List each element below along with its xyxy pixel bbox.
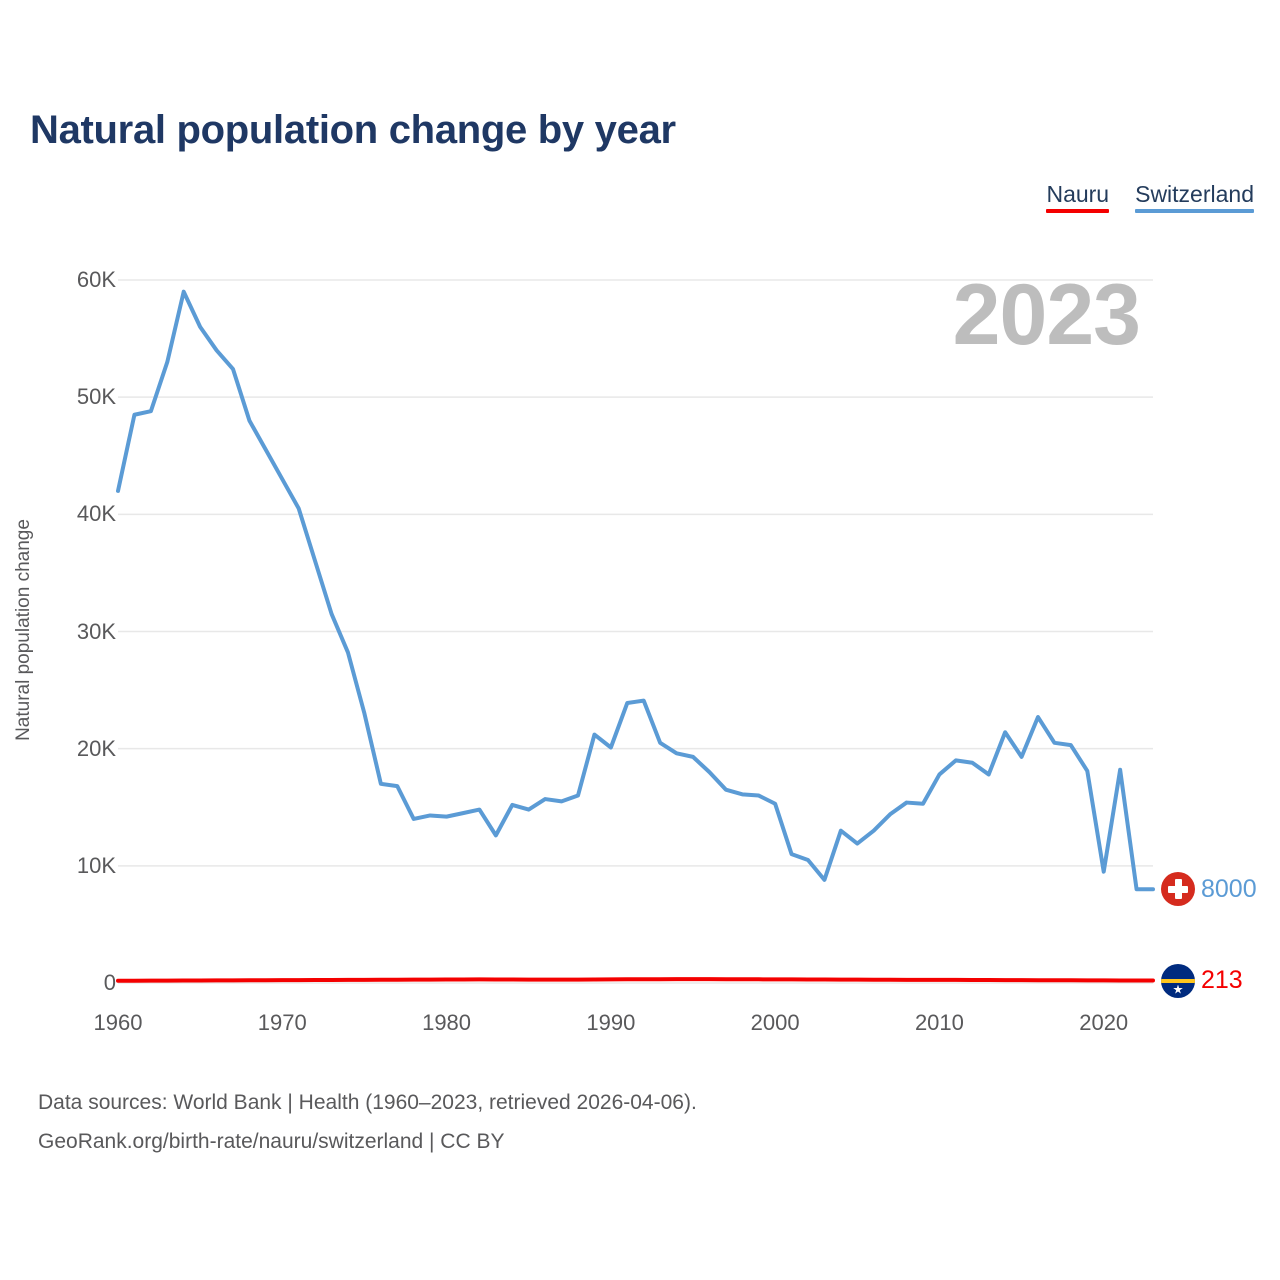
line-series-switzerland bbox=[118, 292, 1153, 890]
legend-item-switzerland[interactable]: Switzerland bbox=[1135, 182, 1254, 213]
end-value-switzerland: 8000 bbox=[1201, 875, 1257, 904]
y-tick-label: 10K bbox=[77, 853, 116, 879]
nauru-flag-icon bbox=[1161, 964, 1195, 998]
legend-rule-nauru bbox=[1046, 209, 1109, 213]
end-value-nauru: 213 bbox=[1201, 966, 1243, 995]
x-tick-label: 1960 bbox=[94, 1010, 143, 1036]
end-label-nauru: 213 bbox=[1161, 964, 1243, 998]
y-tick-label: 0 bbox=[104, 970, 116, 996]
x-tick-label: 1980 bbox=[422, 1010, 471, 1036]
year-watermark: 2023 bbox=[953, 272, 1140, 358]
footer-attribution[interactable]: GeoRank.org/birth-rate/nauru/switzerland… bbox=[38, 1130, 505, 1154]
page-title: Natural population change by year bbox=[30, 108, 676, 153]
gridlines bbox=[118, 280, 1153, 983]
y-tick-label: 20K bbox=[77, 736, 116, 762]
x-tick-label: 2010 bbox=[915, 1010, 964, 1036]
y-tick-label: 60K bbox=[77, 267, 116, 293]
line-series-nauru bbox=[118, 979, 1153, 981]
chart-container: Natural population change by year Nauru … bbox=[0, 0, 1280, 1280]
x-tick-label: 2000 bbox=[751, 1010, 800, 1036]
y-tick-label: 40K bbox=[77, 501, 116, 527]
swiss-flag-icon bbox=[1161, 872, 1195, 906]
legend-label-switzerland: Switzerland bbox=[1135, 182, 1254, 206]
y-tick-label: 30K bbox=[77, 619, 116, 645]
x-tick-label: 1990 bbox=[586, 1010, 635, 1036]
y-axis-ticks: 010K20K30K40K50K60K bbox=[48, 0, 116, 1280]
x-tick-label: 1970 bbox=[258, 1010, 307, 1036]
nauru-flag-stripe bbox=[1161, 979, 1195, 983]
legend-label-nauru: Nauru bbox=[1046, 182, 1109, 206]
y-tick-label: 50K bbox=[77, 384, 116, 410]
legend-item-nauru[interactable]: Nauru bbox=[1046, 182, 1109, 213]
footer-data-sources: Data sources: World Bank | Health (1960–… bbox=[38, 1091, 697, 1115]
legend-rule-switzerland bbox=[1135, 209, 1254, 213]
end-label-switzerland: 8000 bbox=[1161, 872, 1257, 906]
y-axis-title: Natural population change bbox=[13, 519, 35, 741]
x-tick-label: 2020 bbox=[1079, 1010, 1128, 1036]
nauru-flag-star bbox=[1173, 985, 1183, 995]
legend: Nauru Switzerland bbox=[1046, 182, 1254, 213]
